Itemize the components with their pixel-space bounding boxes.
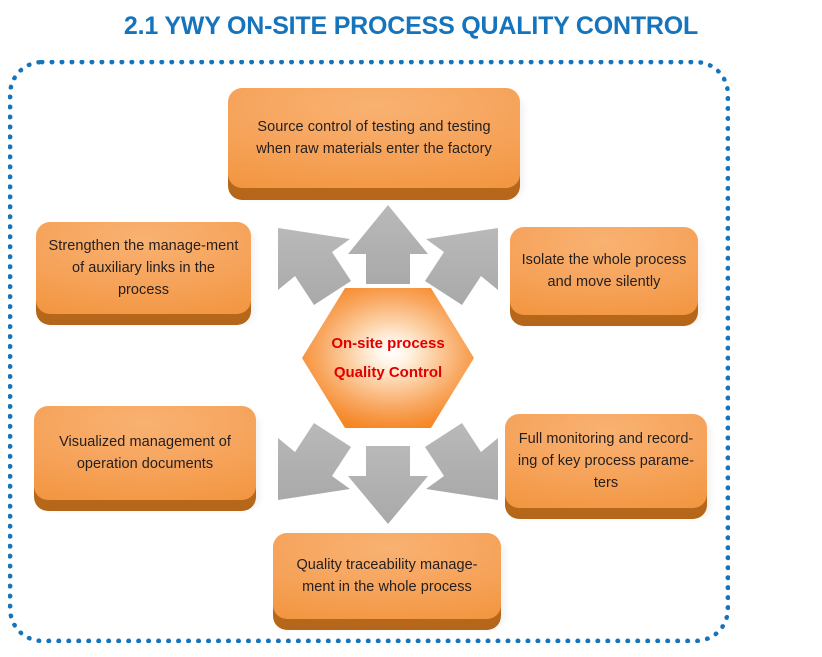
box-strengthen-management-label: Strengthen the manage-ment of auxiliary … (46, 235, 241, 301)
arrow-down-icon (348, 446, 428, 524)
box-isolate-process-label: Isolate the whole process and move silen… (520, 249, 688, 293)
hexagon-shape (302, 288, 474, 428)
box-source-control-label: Source control of testing and testing wh… (238, 116, 510, 160)
arrow-lower-left-icon (278, 423, 351, 500)
center-hexagon[interactable]: On-site process Quality Control (302, 288, 474, 428)
box-isolate-process[interactable]: Isolate the whole process and move silen… (510, 227, 698, 315)
box-full-monitoring-label: Full monitoring and record-ing of key pr… (515, 428, 697, 494)
box-visualized-management[interactable]: Visualized management of operation docum… (34, 406, 256, 500)
diagram-page: 2.1 YWY ON-SITE PROCESS QUALITY CONTROL (0, 0, 822, 657)
box-full-monitoring[interactable]: Full monitoring and record-ing of key pr… (505, 414, 707, 508)
box-strengthen-management[interactable]: Strengthen the manage-ment of auxiliary … (36, 222, 251, 314)
box-quality-traceability-label: Quality traceability manage-ment in the … (283, 554, 491, 598)
arrow-lower-right-icon (425, 423, 498, 500)
box-visualized-management-label: Visualized management of operation docum… (44, 431, 246, 475)
arrow-up-icon (348, 205, 428, 284)
box-source-control[interactable]: Source control of testing and testing wh… (228, 88, 520, 188)
box-quality-traceability[interactable]: Quality traceability manage-ment in the … (273, 533, 501, 619)
page-title: 2.1 YWY ON-SITE PROCESS QUALITY CONTROL (0, 12, 822, 41)
